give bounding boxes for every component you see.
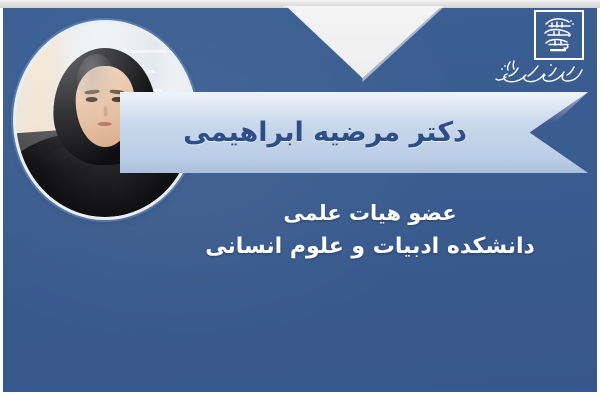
public-relations-calligraphy-icon	[494, 58, 586, 88]
bottom-white-band	[0, 392, 600, 400]
role-block: عضو هیات علمی دانشکده ادبیات و علوم انسا…	[170, 198, 570, 263]
page-title: دکتر مرضیه ابراهیمی	[120, 92, 530, 173]
faculty-profile-card: دکتر مرضیه ابراهیمی عضو هیات علمی دانشکد…	[0, 0, 600, 400]
department-name: دانشکده ادبیات و علوم انسانی	[170, 231, 570, 263]
portrait-mouth	[98, 122, 112, 126]
shahid-beheshti-university-logo-icon	[534, 10, 584, 60]
photo-background-detail	[119, 50, 165, 53]
name-ribbon: دکتر مرضیه ابراهیمی	[120, 92, 588, 173]
portrait-hijab-sheen	[77, 54, 116, 108]
role-title: عضو هیات علمی	[170, 198, 570, 228]
portrait-nose	[103, 106, 107, 117]
university-logo	[492, 8, 588, 90]
